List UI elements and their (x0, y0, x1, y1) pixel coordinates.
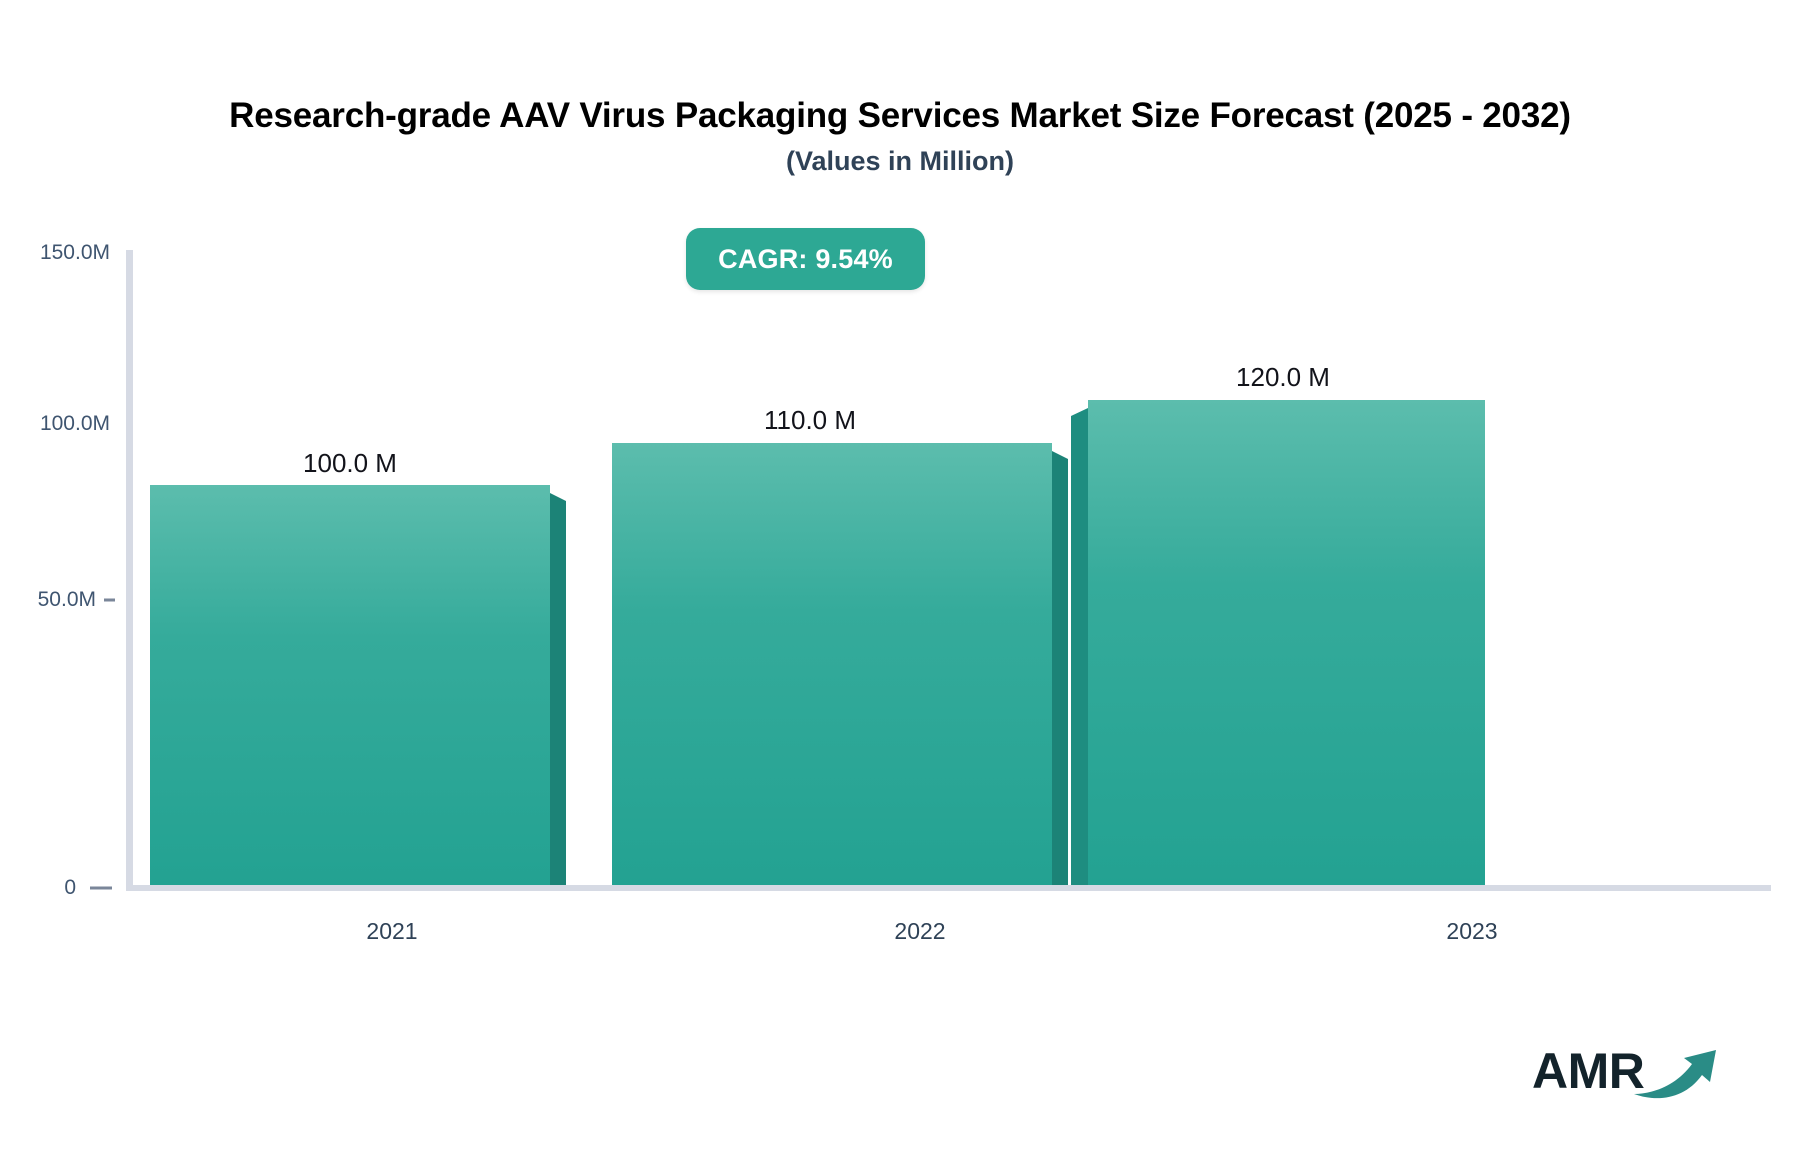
bar-side-2021 (550, 493, 566, 885)
x-tick-label-2021: 2021 (366, 918, 417, 945)
y-tick-mark-0 (90, 887, 112, 890)
bar-value-label-2023: 120.0 M (1236, 362, 1330, 393)
y-tick-label-100: 100.0M (0, 412, 110, 436)
bar-side-2022 (1052, 451, 1068, 885)
chart-subtitle: (Values in Million) (0, 146, 1800, 177)
bar-face-2021 (150, 485, 550, 885)
y-axis-line (126, 250, 133, 891)
bar-value-label-2021: 100.0 M (303, 448, 397, 479)
amr-logo: AMR (1532, 1046, 1712, 1108)
bar-2021[interactable] (150, 485, 550, 885)
x-axis-line (126, 885, 1771, 891)
cagr-badge-label: CAGR: 9.54% (718, 244, 893, 275)
x-tick-label-2023: 2023 (1446, 918, 1497, 945)
bar-2023[interactable] (1088, 400, 1485, 885)
bar-value-label-2022: 110.0 M (764, 405, 856, 436)
amr-logo-text: AMR (1532, 1046, 1644, 1096)
chart-canvas: Research-grade AAV Virus Packaging Servi… (0, 0, 1800, 1156)
growth-arrow-icon (1632, 1044, 1722, 1106)
y-tick-label-150: 150.0M (0, 241, 110, 265)
x-tick-label-2022: 2022 (894, 918, 945, 945)
y-tick-mark-50 (104, 599, 115, 602)
chart-title: Research-grade AAV Virus Packaging Servi… (0, 96, 1800, 136)
y-tick-label-50: 50.0M (0, 588, 96, 612)
cagr-badge: CAGR: 9.54% (686, 228, 925, 290)
bar-side-2023 (1071, 408, 1088, 885)
y-tick-label-0: 0 (0, 876, 76, 900)
bar-face-2023 (1088, 400, 1485, 885)
bar-face-2022 (612, 443, 1052, 885)
bar-2022[interactable] (612, 443, 1052, 885)
